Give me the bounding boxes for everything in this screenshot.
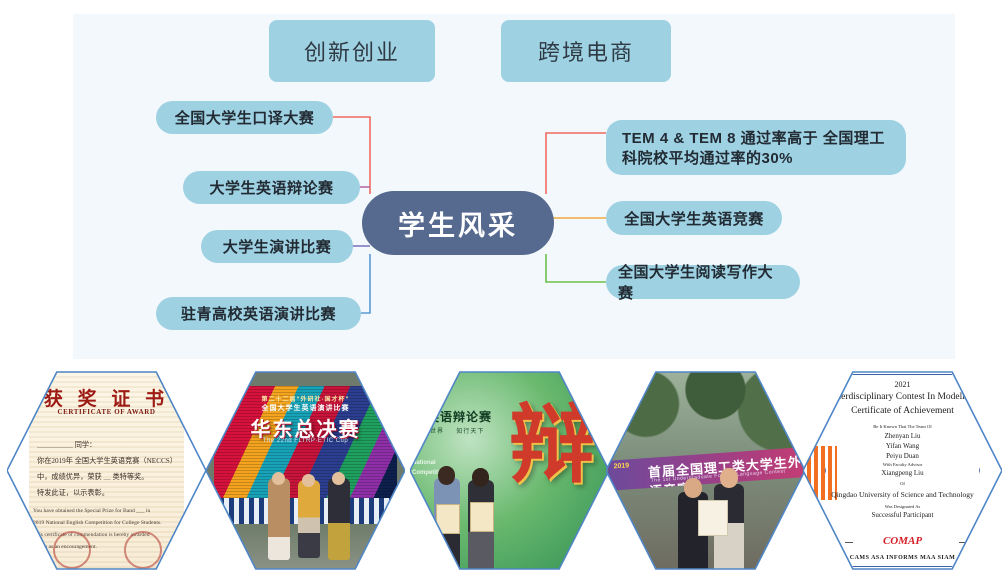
- icm-sponsor-logos: CAMS ASA INFORMS MAA SIAM: [829, 555, 976, 561]
- cert-line-cn-1: ＿＿＿＿＿ 同学：: [37, 440, 178, 450]
- cert-line-cn-3: 中，成绩优异，荣获 ＿ 类特等奖。: [37, 472, 178, 482]
- icm-advisor-label: With Faculty Advisor: [829, 462, 976, 467]
- head-2: [302, 474, 315, 487]
- person-3: [328, 478, 350, 560]
- photo-strip: 获 奖 证 书 CERTIFICATE OF AWARD ＿＿＿＿＿ 同学： 你…: [0, 368, 1007, 573]
- debate-title: 生英语辩论赛: [414, 408, 492, 425]
- branch-node-right-2[interactable]: 全国大学生英语竞赛: [606, 201, 782, 235]
- icm-heading-2: Certificate of Achievement: [829, 406, 976, 416]
- led-line1: 第二十二届“外研社·国才杯”: [214, 394, 397, 403]
- icm-year: 2021: [829, 380, 976, 389]
- branch-node-left-3[interactable]: 大学生演讲比赛: [201, 230, 353, 263]
- branch-node-left-2[interactable]: 大学生英语辩论赛: [183, 171, 360, 204]
- cert-line-cn-2: 你在2019年 全国大学生英语竞赛（NECCS）: [37, 456, 178, 466]
- icm-member-1: Zhenyan Liu: [829, 432, 976, 440]
- awardee-head: [720, 468, 738, 488]
- branch-node-right-1[interactable]: TEM 4 & TEM 8 通过率高于 全国理工 科院校平均通过率的30%: [606, 120, 906, 175]
- person-1: [268, 478, 290, 560]
- cert-line-en-3: This certificate of commendation is here…: [33, 532, 182, 538]
- cert-line-cn-4: 特发此证，以示表彰。: [37, 488, 178, 498]
- head-1: [272, 472, 285, 485]
- debate-sub: 胸怀世界 知行天下: [416, 426, 484, 435]
- student-1-head: [438, 466, 455, 485]
- header-box-ecommerce[interactable]: 跨境电商: [501, 20, 671, 82]
- photo-national-contest[interactable]: 2019 首届全国理工类大学生外语竞赛 The 1st Undergraduat…: [606, 368, 805, 573]
- icm-signature-right: [959, 536, 967, 543]
- icm-of-label: Of: [829, 481, 976, 486]
- branch-node-right-1-line2: 科院校平均通过率的30%: [622, 149, 890, 169]
- branch-node-right-3[interactable]: 全国大学生阅读写作大赛: [606, 265, 800, 299]
- awardee-certificate: [698, 500, 728, 536]
- mindmap-canvas: 创新创业 跨境电商 全国大学生口译大赛 大学生英语辩论赛 大学生演讲比赛 驻青高…: [73, 14, 955, 359]
- banner-year: 2019: [613, 462, 629, 470]
- led-line2: 全国大学生英语演讲比赛: [214, 403, 397, 413]
- comap-logo: COMAP: [883, 535, 922, 547]
- icm-advisor: Xiangpeng Liu: [829, 469, 976, 477]
- cert-line-en-2: 2019 National English Competition for Co…: [33, 520, 182, 526]
- icm-designated-label: Was Designated As: [829, 504, 976, 509]
- photo-icm-certificate-image: 2021 Interdisciplinary Contest In Modeli…: [803, 368, 1002, 573]
- photo-huadong-final-image: 第二十二届“外研社·国才杯” 全国大学生英语演讲比赛 华东总决赛 The 22n…: [206, 368, 405, 573]
- photo-english-debate[interactable]: 辩 生英语辩论赛 胸怀世界 知行天下 National Competition: [410, 368, 609, 573]
- icm-designation: Successful Participant: [829, 511, 976, 519]
- head-3: [332, 472, 345, 485]
- icm-heading-1: Interdisciplinary Contest In Modeling: [829, 392, 976, 402]
- branch-node-left-1[interactable]: 全国大学生口译大赛: [156, 101, 333, 134]
- held-certificate-2: [470, 502, 494, 532]
- cert-title-en: CERTIFICATE OF AWARD: [29, 408, 184, 416]
- person-2: [298, 480, 320, 558]
- cert-line-en-1: You have obtained the Special Prize for …: [33, 508, 182, 514]
- photo-english-debate-image: 辩 生英语辩论赛 胸怀世界 知行天下 National Competition: [410, 368, 609, 573]
- photo-award-certificate-image: 获 奖 证 书 CERTIFICATE OF AWARD ＿＿＿＿＿ 同学： 你…: [7, 368, 206, 573]
- icm-preamble: Be It Known That The Team Of: [829, 424, 976, 429]
- led-subtitle: The 22nd FLTRP·ETIC Cup: [214, 438, 397, 444]
- photo-award-certificate[interactable]: 获 奖 证 书 CERTIFICATE OF AWARD ＿＿＿＿＿ 同学： 你…: [7, 368, 206, 573]
- branch-node-left-4[interactable]: 驻青高校英语演讲比赛: [156, 297, 361, 330]
- held-certificate-1: [436, 504, 460, 534]
- debate-en1: National: [412, 460, 436, 466]
- center-node[interactable]: 学生风采: [362, 191, 554, 255]
- header-box-innovation[interactable]: 创新创业: [269, 20, 435, 82]
- photo-icm-certificate[interactable]: 2021 Interdisciplinary Contest In Modeli…: [803, 368, 1002, 573]
- teacher-head: [684, 478, 702, 498]
- cert-stamp-right: [124, 531, 162, 569]
- photo-national-contest-image: 2019 首届全国理工类大学生外语竞赛 The 1st Undergraduat…: [606, 368, 805, 573]
- cert-stamp-left: [53, 531, 91, 569]
- student-2-head: [472, 468, 489, 487]
- debate-big-char: 辩: [509, 402, 595, 488]
- icm-institution: Qingdao University of Science and Techno…: [813, 490, 992, 499]
- icm-member-2: Yifan Wang: [829, 442, 976, 450]
- icm-signature-left: [845, 536, 853, 543]
- icm-member-3: Peiyu Duan: [829, 452, 976, 460]
- branch-node-right-1-line1: TEM 4 & TEM 8 通过率高于 全国理工: [622, 129, 890, 149]
- cert-title-cn: 获 奖 证 书: [29, 384, 184, 411]
- photo-huadong-final[interactable]: 第二十二届“外研社·国才杯” 全国大学生英语演讲比赛 华东总决赛 The 22n…: [206, 368, 405, 573]
